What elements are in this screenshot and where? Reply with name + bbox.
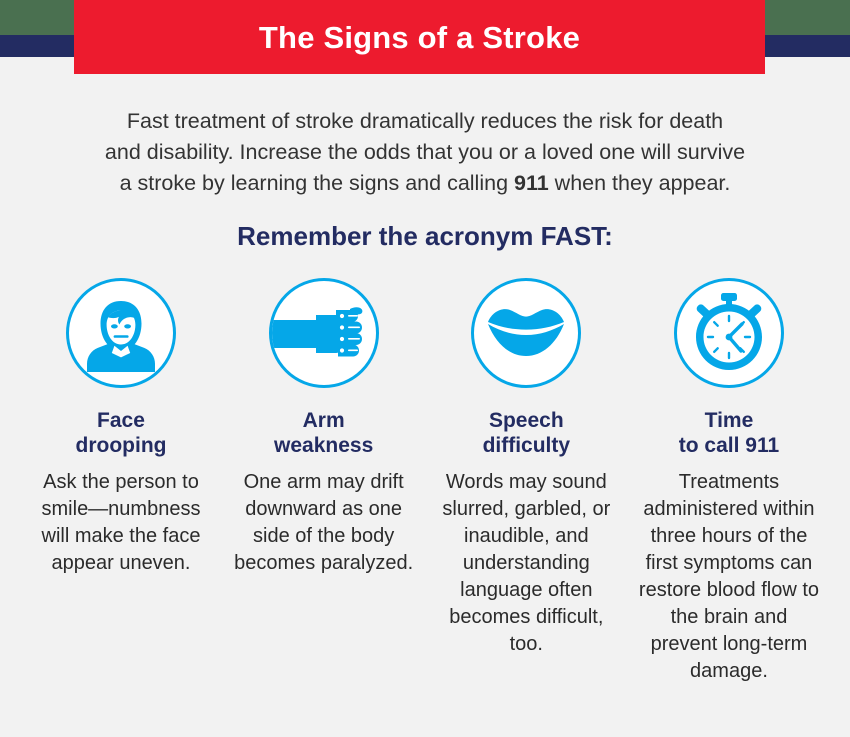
fast-column-face-heading-line1: Face <box>76 408 167 433</box>
fast-column-time: Time to call 911 Treatments administered… <box>636 278 822 685</box>
stopwatch-icon <box>685 289 773 377</box>
face-icon <box>78 290 164 376</box>
fast-column-arm-heading: Arm weakness <box>274 408 373 458</box>
fast-column-speech: Speech difficulty Words may sound slurre… <box>433 278 619 658</box>
intro-line-3-before: a stroke by learning the signs and calli… <box>120 171 514 195</box>
fast-column-arm-heading-line2: weakness <box>274 433 373 458</box>
fast-column-time-body: Treatments administered within three hou… <box>636 469 822 685</box>
intro-line-1: Fast treatment of stroke dramatically re… <box>0 106 850 137</box>
arm-fist-icon <box>272 281 376 385</box>
intro-line-3-after: when they appear. <box>549 171 731 195</box>
fast-column-speech-body: Words may sound slurred, garbled, or ina… <box>433 469 619 658</box>
fast-columns: Face drooping Ask the person to smile—nu… <box>28 278 822 685</box>
page-title: The Signs of a Stroke <box>259 22 580 53</box>
fast-column-arm-heading-line1: Arm <box>274 408 373 433</box>
acronym-heading: Remember the acronym FAST: <box>0 221 850 252</box>
intro-line-3: a stroke by learning the signs and calli… <box>0 168 850 199</box>
emergency-number: 911 <box>514 171 549 195</box>
title-banner: The Signs of a Stroke <box>74 0 765 74</box>
fast-column-speech-heading-line2: difficulty <box>483 433 571 458</box>
fast-column-time-heading-line1: Time <box>679 408 779 433</box>
intro-paragraph: Fast treatment of stroke dramatically re… <box>0 106 850 199</box>
arm-icon-circle <box>269 278 379 388</box>
mouth-icon <box>486 305 566 361</box>
fast-column-arm: Arm weakness One arm may drift downward … <box>231 278 417 577</box>
stopwatch-icon-circle <box>674 278 784 388</box>
fast-column-face-body: Ask the person to smile—numbness will ma… <box>28 469 214 577</box>
fast-column-arm-body: One arm may drift downward as one side o… <box>231 469 417 577</box>
fast-column-time-heading-line2: to call 911 <box>679 433 779 458</box>
fast-column-face: Face drooping Ask the person to smile—nu… <box>28 278 214 577</box>
intro-line-2: and disability. Increase the odds that y… <box>0 137 850 168</box>
fast-column-speech-heading-line1: Speech <box>483 408 571 433</box>
mouth-icon-circle <box>471 278 581 388</box>
face-icon-circle <box>66 278 176 388</box>
fast-column-face-heading-line2: drooping <box>76 433 167 458</box>
fast-column-time-heading: Time to call 911 <box>679 408 779 458</box>
fast-column-speech-heading: Speech difficulty <box>483 408 571 458</box>
fast-column-face-heading: Face drooping <box>76 408 167 458</box>
